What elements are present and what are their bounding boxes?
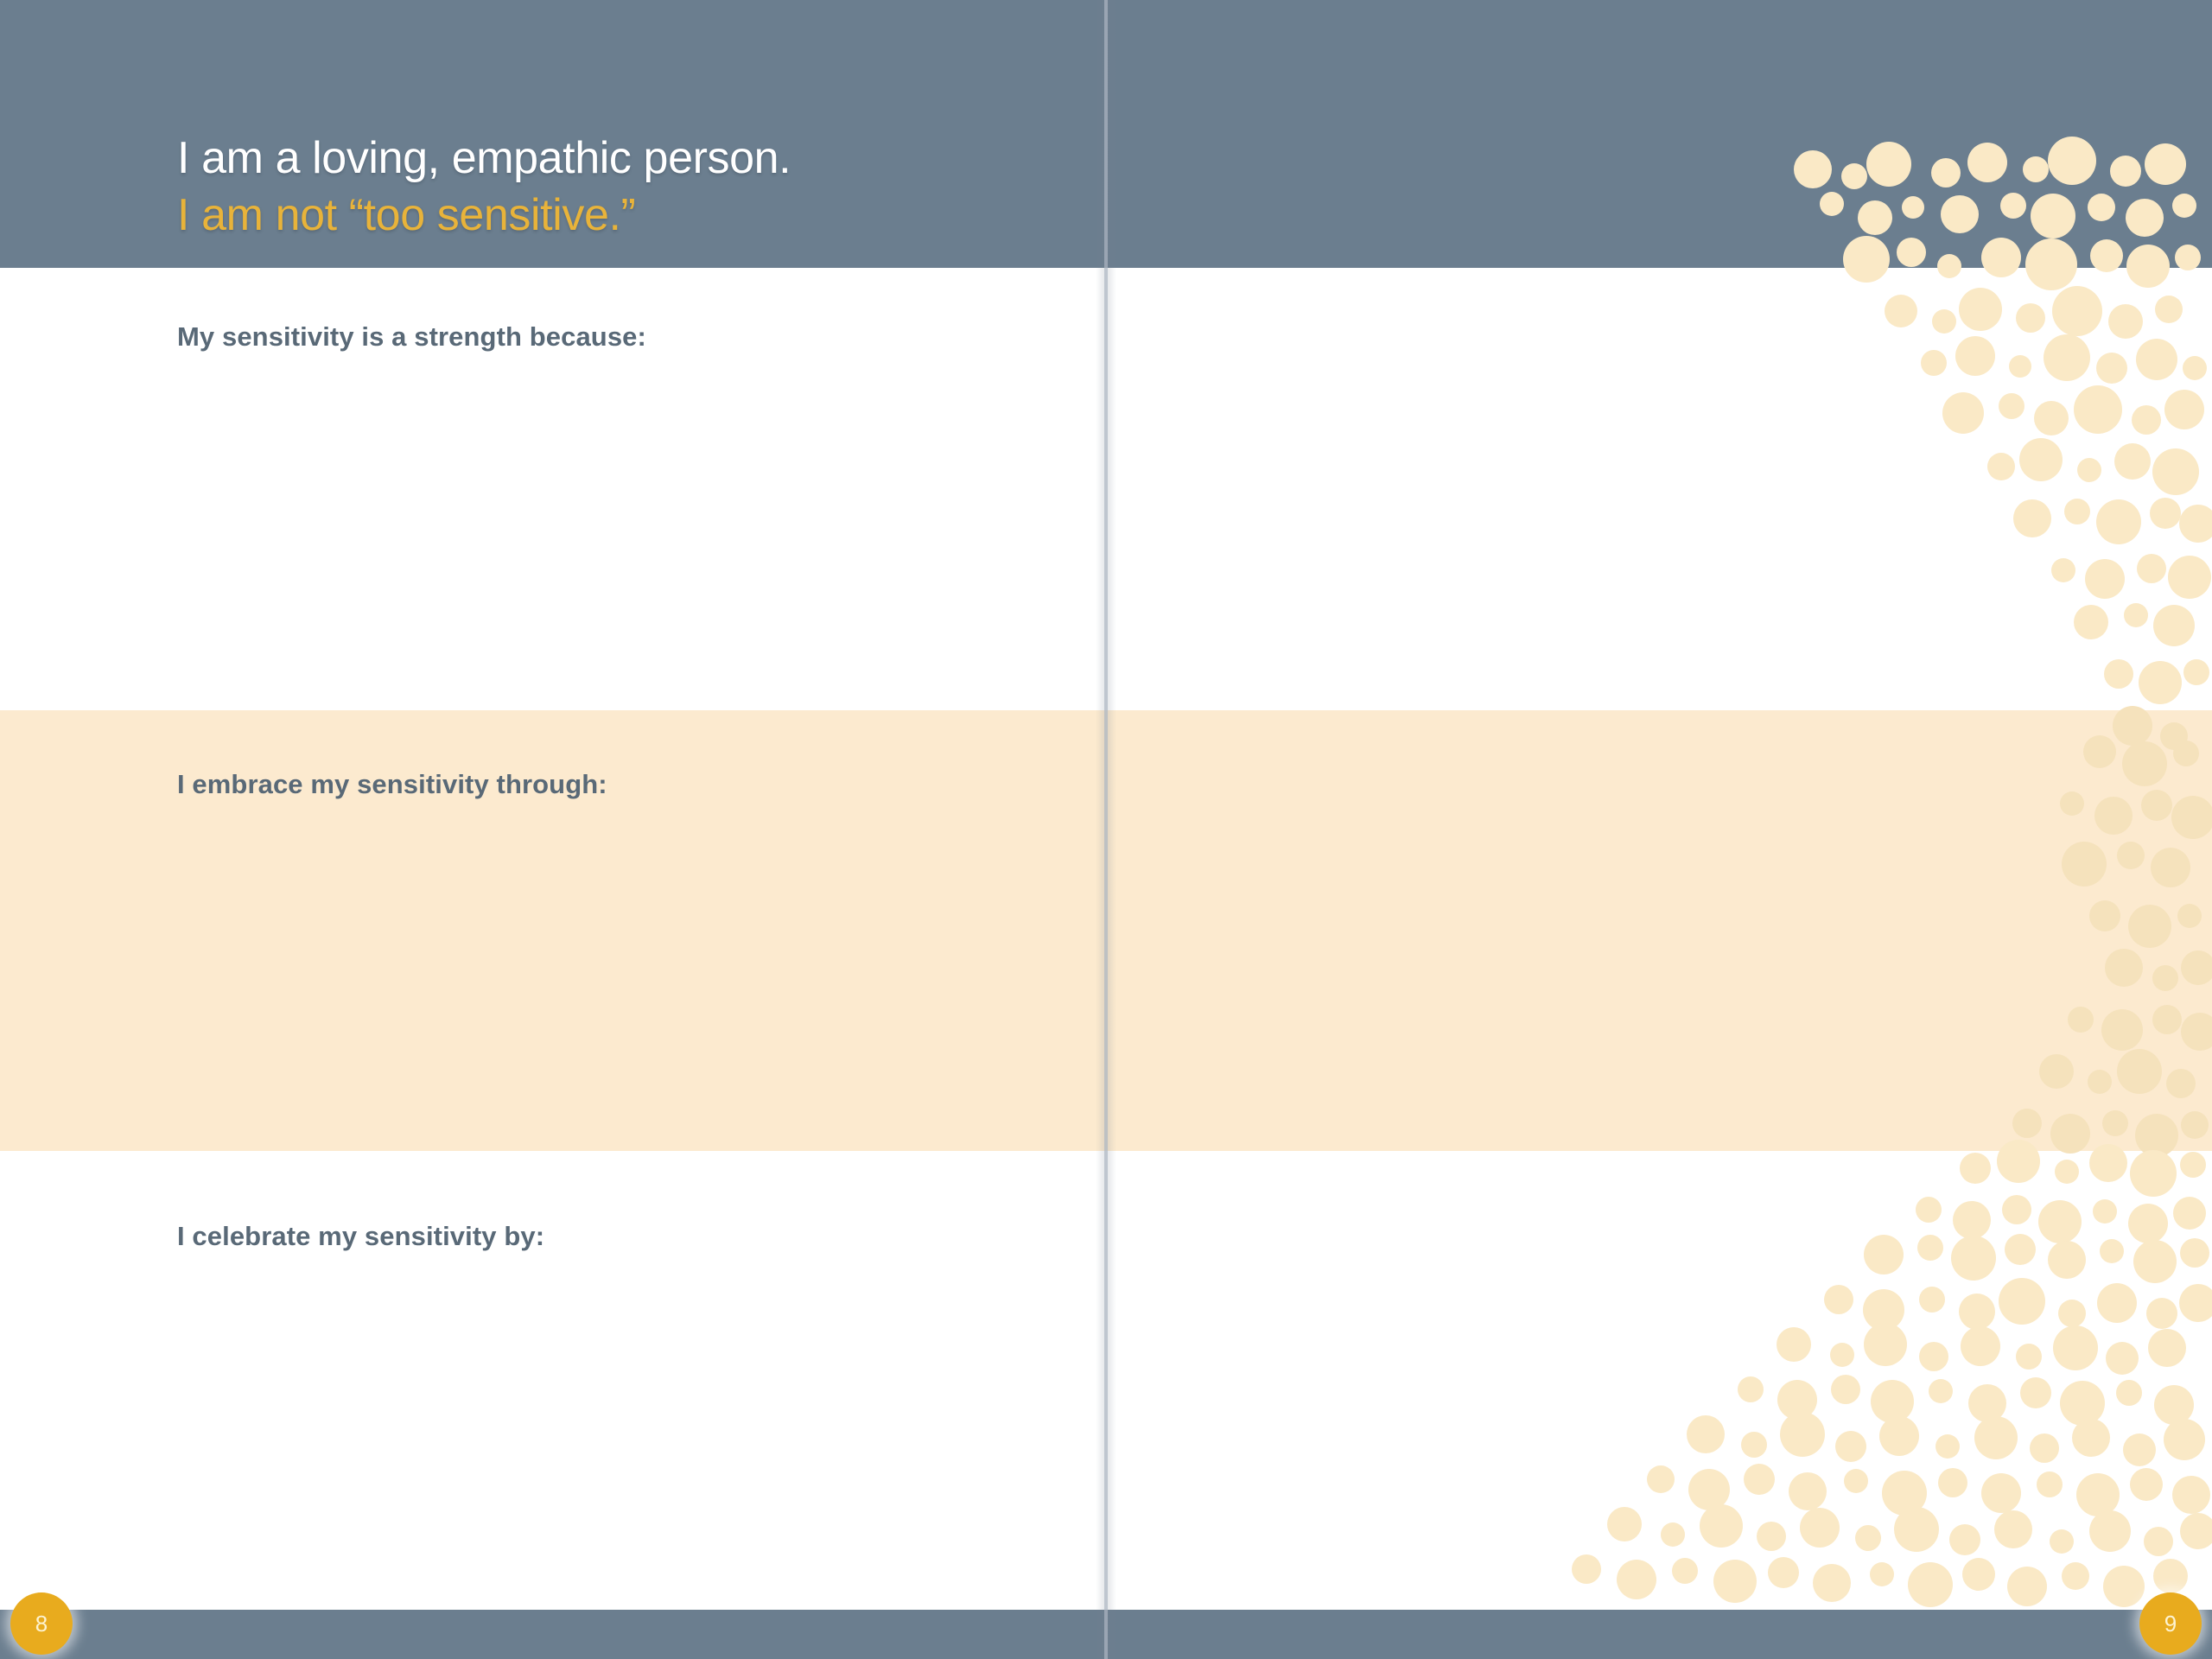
- page-number-left: 8: [10, 1592, 73, 1655]
- prompt-label-celebrate: I celebrate my sensitivity by:: [177, 1221, 544, 1252]
- prompt-label-embrace: I embrace my sensitivity through:: [177, 769, 607, 800]
- writing-area-strength[interactable]: [177, 372, 1041, 691]
- affirmation-line-secondary: I am not “too sensitive.”: [177, 187, 1041, 244]
- writing-area-embrace[interactable]: [177, 819, 1041, 1139]
- affirmation-heading: I am a loving, empathic person. I am not…: [177, 130, 1041, 244]
- journal-spread: I am a loving, empathic person. I am not…: [0, 0, 2212, 1659]
- gutter-shadow-left: [1096, 0, 1104, 1659]
- prompt-label-strength: My sensitivity is a strength because:: [177, 321, 646, 353]
- page-gutter: [1104, 0, 1108, 1659]
- page-number-right: 9: [2139, 1592, 2202, 1655]
- gutter-shadow-right: [1108, 0, 1116, 1659]
- writing-area-celebrate[interactable]: [177, 1271, 1041, 1599]
- affirmation-line-primary: I am a loving, empathic person.: [177, 130, 1041, 187]
